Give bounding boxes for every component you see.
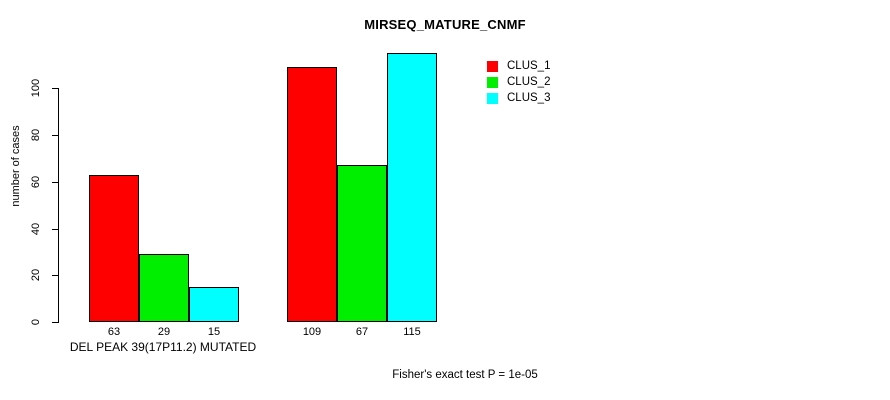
x-axis-title: DEL PEAK 39(17P11.2) MUTATED <box>16 340 310 354</box>
bar-group2-clus2[interactable] <box>337 165 387 322</box>
chart-title: MIRSEQ_MATURE_CNMF <box>0 17 890 32</box>
chart-canvas: MIRSEQ_MATURE_CNMF number of cases 0 20 … <box>0 0 890 400</box>
y-axis-tick-100 <box>52 88 58 89</box>
bar-group1-clus1[interactable] <box>89 175 139 322</box>
bar-group2-clus1[interactable] <box>287 67 337 322</box>
legend-swatch-clus2 <box>487 77 498 88</box>
bar-label-group1-clus2: 29 <box>139 326 189 338</box>
bar-group2-clus3[interactable] <box>387 53 437 322</box>
y-axis-tick-0 <box>52 322 58 323</box>
statistical-annotation: Fisher's exact test P = 1e-05 <box>280 369 650 381</box>
legend-label-clus1: CLUS_1 <box>507 60 550 72</box>
bar-label-group1-clus1: 63 <box>89 326 139 338</box>
legend-label-clus2: CLUS_2 <box>507 76 550 88</box>
legend-item-clus3[interactable]: CLUS_3 <box>487 90 550 106</box>
bar-group1-clus3[interactable] <box>189 287 239 322</box>
y-axis-label-100: 100 <box>30 70 42 106</box>
y-axis-label-80: 80 <box>30 120 42 150</box>
legend: CLUS_1 CLUS_2 CLUS_3 <box>487 58 550 106</box>
bar-label-group2-clus3: 115 <box>387 326 437 338</box>
y-axis-label-60: 60 <box>30 167 42 197</box>
y-axis-tick-40 <box>52 229 58 230</box>
bar-label-group1-clus3: 15 <box>189 326 239 338</box>
y-axis-label-20: 20 <box>30 260 42 290</box>
legend-item-clus2[interactable]: CLUS_2 <box>487 74 550 90</box>
legend-label-clus3: CLUS_3 <box>507 92 550 104</box>
bar-label-group2-clus2: 67 <box>337 326 387 338</box>
legend-swatch-clus1 <box>487 61 498 72</box>
y-axis-label-0: 0 <box>30 307 42 337</box>
bar-group1-clus2[interactable] <box>139 254 189 322</box>
y-axis-tick-60 <box>52 182 58 183</box>
y-axis-label-40: 40 <box>30 214 42 244</box>
y-axis-title: number of cases <box>10 96 22 236</box>
legend-item-clus1[interactable]: CLUS_1 <box>487 58 550 74</box>
y-axis-tick-80 <box>52 135 58 136</box>
bar-label-group2-clus1: 109 <box>287 326 337 338</box>
legend-swatch-clus3 <box>487 93 498 104</box>
y-axis-line <box>58 88 59 323</box>
y-axis-tick-20 <box>52 275 58 276</box>
